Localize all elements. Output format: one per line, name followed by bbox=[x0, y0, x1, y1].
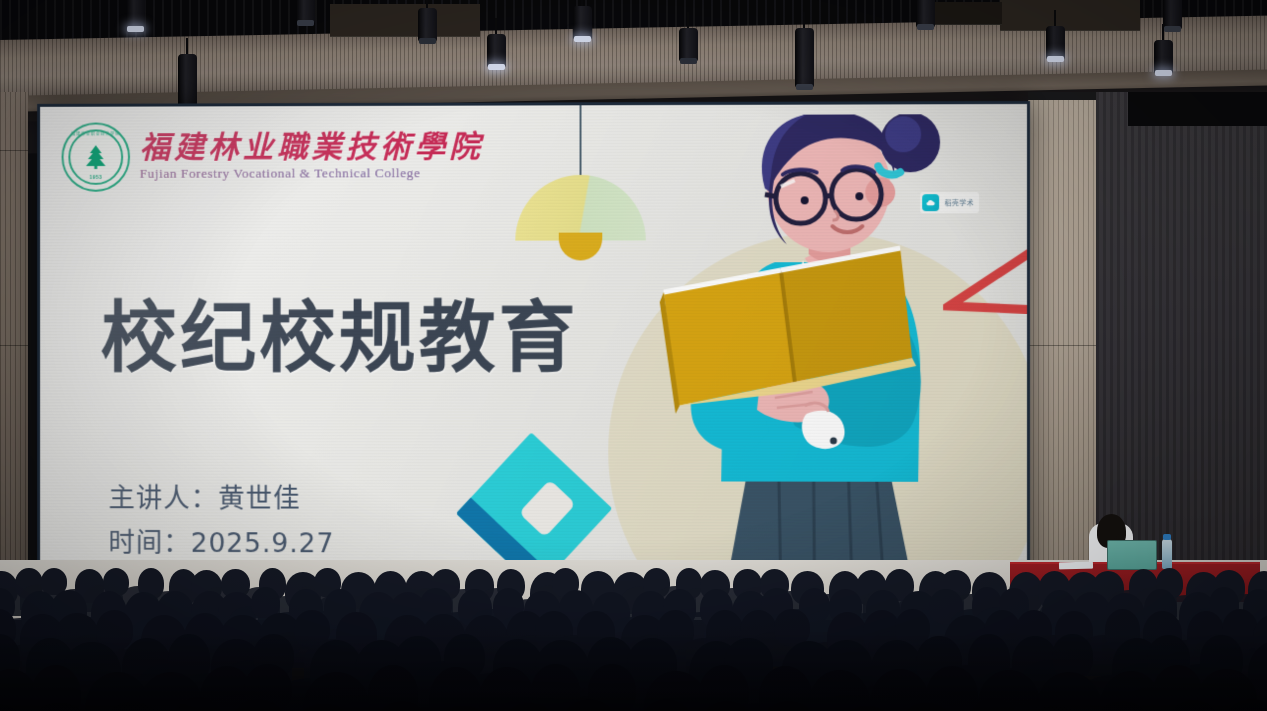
bottle-cap bbox=[1163, 534, 1171, 540]
cloud-icon bbox=[923, 194, 940, 211]
college-seal-icon: 福建林业职业技术学院 1953 bbox=[62, 122, 130, 191]
speaker-line: 主讲人：黄世佳 bbox=[108, 478, 334, 523]
right-wall-panel bbox=[1028, 100, 1098, 580]
seal-year: 1953 bbox=[64, 175, 129, 181]
back-wall bbox=[1096, 92, 1267, 590]
ceiling-panel bbox=[330, 4, 480, 37]
audience-crowd bbox=[0, 556, 1267, 711]
projection-screen[interactable]: 福建林业职业技术学院 1953 福建林业職業技術學院 Fujian Forest… bbox=[37, 101, 1030, 590]
college-logo: 福建林业职业技术学院 1953 福建林业職業技術學院 Fujian Forest… bbox=[62, 121, 484, 191]
left-wall-panel bbox=[0, 92, 28, 592]
ceiling-panel bbox=[1000, 0, 1140, 31]
college-name-cn: 福建林业職業技術學院 bbox=[140, 132, 484, 165]
slide-meta: 主讲人：黄世佳 时间：2025.9.27 bbox=[108, 478, 334, 567]
watermark-badge: 稻壳学术 bbox=[921, 192, 979, 213]
watermark-label: 稻壳学术 bbox=[944, 198, 974, 208]
audience-member bbox=[1052, 634, 1093, 677]
ceiling-panel bbox=[932, 2, 1002, 25]
pine-tree-icon bbox=[81, 142, 110, 172]
seal-arc-text: 福建林业职业技术学院 bbox=[64, 131, 129, 137]
ceiling-dark-band bbox=[1128, 92, 1267, 126]
lecture-hall-photo: 福建林业职业技术学院 1953 福建林业職業技術學院 Fujian Forest… bbox=[0, 0, 1267, 711]
college-name-en: Fujian Forestry Vocational & Technical C… bbox=[140, 165, 484, 182]
slide-title: 校纪校规教育 bbox=[101, 300, 579, 378]
